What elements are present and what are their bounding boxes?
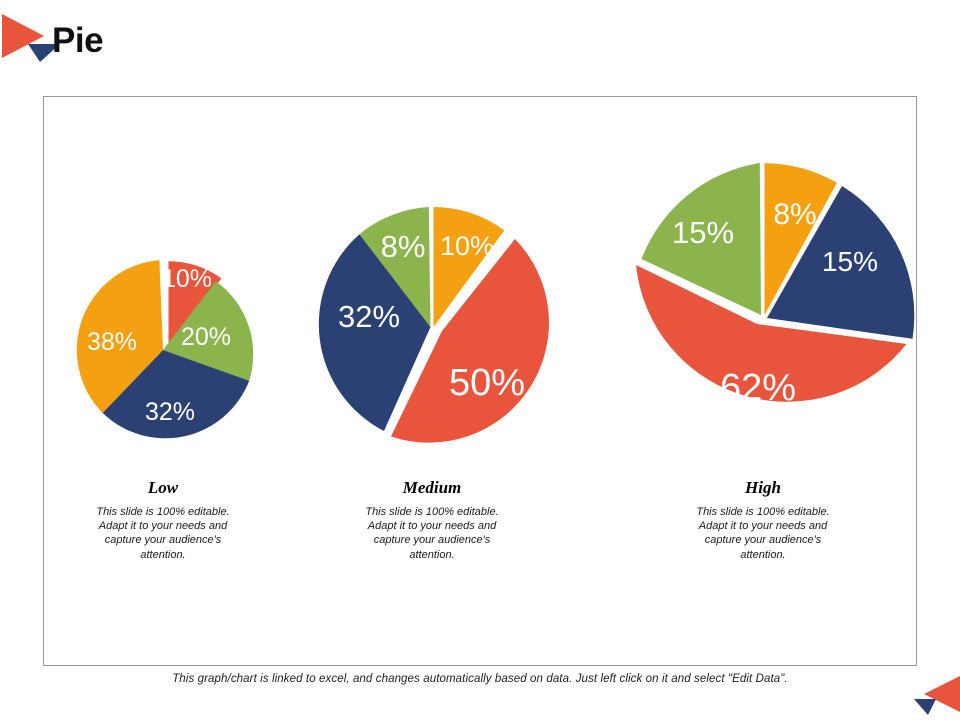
pie-chart-high[interactable]: 8% 15% 62% 15% [603,160,923,472]
pie-slice-label-green-20: 20% [181,323,231,351]
brand-logo-bottom-right [914,673,960,717]
column-description-medium: This slide is 100% editable. Adapt it to… [352,505,512,562]
page-title: Pie [52,19,103,63]
pie-slice-label-blue-32: 32% [338,299,400,334]
pie-chart-medium-svg: 10% 50% 32% 8% [302,197,572,472]
pie-slice-label-green-15: 15% [672,215,734,250]
pie-chart-low[interactable]: 10% 20% 32% 38% [63,240,263,460]
pie-slice-label-red-62: 62% [720,367,796,409]
pie-slice-label-red-10: 10% [162,265,212,293]
pie-chart-medium[interactable]: 10% 50% 32% 8% [302,197,572,472]
pie-slice-label-red-50: 50% [449,362,525,404]
brand-arrow-logo-mirrored-icon [914,673,960,717]
pie-slice-label-blue-32: 32% [145,398,195,426]
column-description-high: This slide is 100% editable. Adapt it to… [683,505,843,562]
column-description-low: This slide is 100% editable. Adapt it to… [83,505,243,562]
pie-slice-label-orange-10: 10% [440,231,494,261]
footer-note: This graph/chart is linked to excel, and… [0,673,960,685]
pie-slice-label-green-8: 8% [381,229,426,264]
pie-slice-label-orange-8: 8% [773,198,816,231]
pie-slice-label-orange-38: 38% [87,328,137,356]
column-title-high: High [668,478,858,498]
pie-slice-label-blue-15: 15% [822,246,878,277]
column-title-medium: Medium [337,478,527,498]
column-title-low: Low [63,478,263,498]
pie-chart-high-svg: 8% 15% 62% 15% [603,160,923,472]
pie-chart-low-svg: 10% 20% 32% 38% [63,240,263,460]
